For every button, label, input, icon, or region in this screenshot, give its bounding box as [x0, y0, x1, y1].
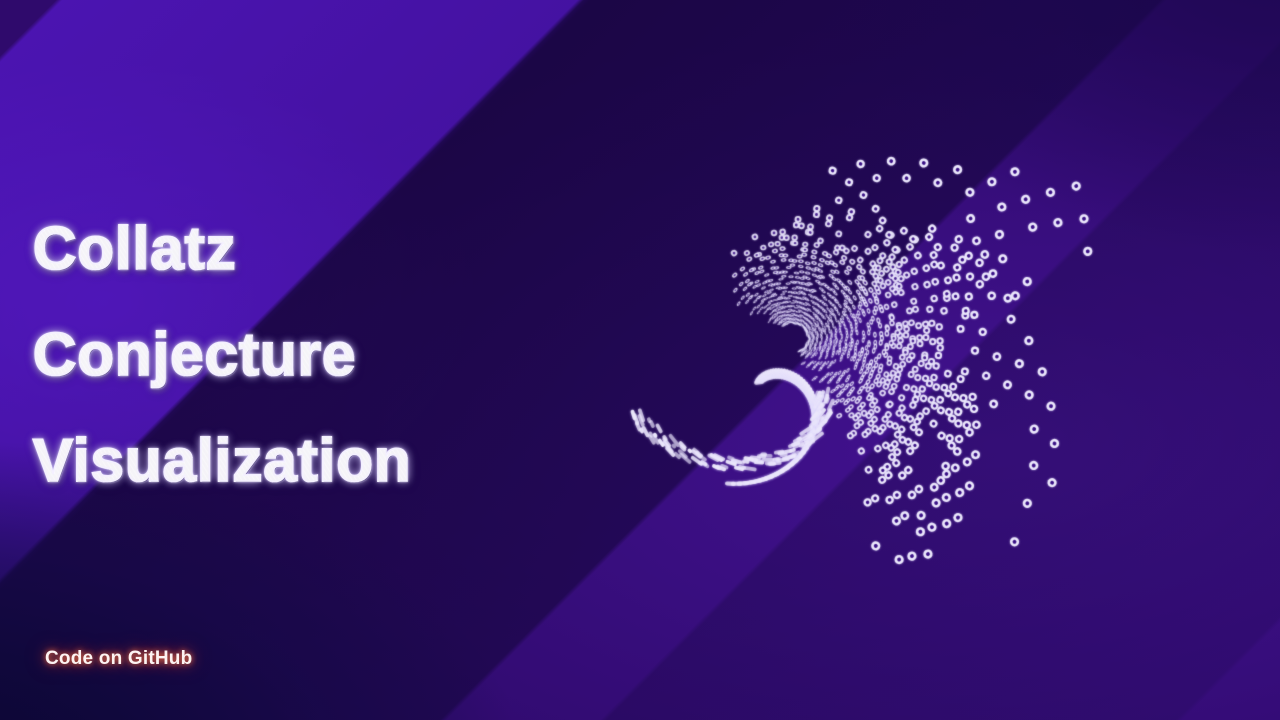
- title-line-3-text: Visualization: [33, 408, 412, 514]
- title-line-3: Visualization: [33, 408, 533, 514]
- title-line-1-text: Collatz: [33, 196, 237, 302]
- page-title: Collatz Conjecture Visualization: [33, 196, 533, 514]
- code-on-github-link[interactable]: Code on GitHub: [45, 648, 192, 670]
- title-slide: Collatz Conjecture Visualization Code on…: [0, 0, 1280, 720]
- title-line-1: Collatz: [33, 196, 533, 302]
- title-line-2-text: Conjecture: [33, 302, 356, 408]
- title-line-2: Conjecture: [33, 302, 533, 408]
